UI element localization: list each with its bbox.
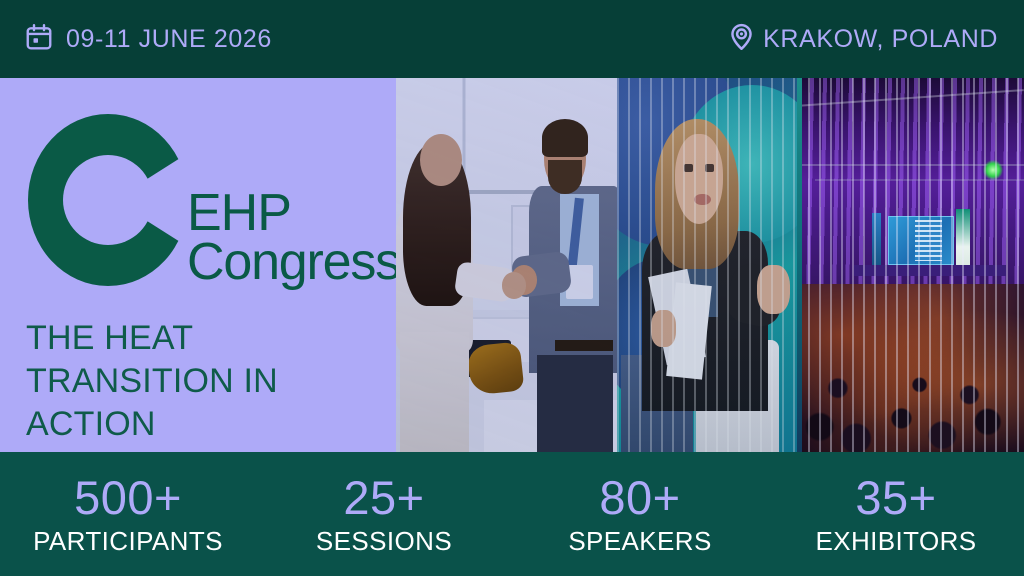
- handshake-networking-photo: [396, 78, 617, 452]
- event-promo-banner: 09-11 JUNE 2026 KRAKOW, POLAND: [0, 0, 1024, 576]
- banner-header-bar: 09-11 JUNE 2026 KRAKOW, POLAND: [0, 0, 1024, 78]
- stats-bar: 500+ PARTICIPANTS 25+ SESSIONS 80+ SPEAK…: [0, 452, 1024, 576]
- stat-label: SPEAKERS: [568, 528, 711, 554]
- brand-name-line-2: Congress: [187, 238, 400, 287]
- speaker-on-stage-photo: [617, 78, 797, 452]
- event-date-text: 09-11 JUNE 2026: [66, 25, 272, 54]
- stat-label: EXHIBITORS: [815, 528, 976, 554]
- event-tagline: THE HEAT TRANSITION IN ACTION: [26, 317, 396, 445]
- stat-label: PARTICIPANTS: [33, 528, 223, 554]
- event-location-text: KRAKOW, POLAND: [763, 25, 998, 54]
- letter-c-ring-mark-icon: [28, 114, 193, 291]
- stat-value: 25+: [343, 474, 424, 521]
- logo-lockup: EHP Congress: [26, 116, 396, 291]
- photo3-left-edge-accent: [797, 78, 802, 452]
- brand-wordmark: EHP Congress: [187, 189, 400, 287]
- stat-speakers: 80+ SPEAKERS: [512, 474, 768, 554]
- stat-exhibitors: 35+ EXHIBITORS: [768, 474, 1024, 554]
- stat-value: 80+: [599, 474, 680, 521]
- calendar-icon: [24, 22, 54, 57]
- photo-strip: [396, 78, 1024, 452]
- stat-participants: 500+ PARTICIPANTS: [0, 474, 256, 554]
- stat-value: 35+: [855, 474, 936, 521]
- banner-body: EHP Congress THE HEAT TRANSITION IN ACTI…: [0, 78, 1024, 452]
- stat-label: SESSIONS: [316, 528, 452, 554]
- photo1-color-tint: [396, 78, 617, 452]
- brand-panel: EHP Congress THE HEAT TRANSITION IN ACTI…: [0, 78, 396, 452]
- photo2-color-tint: [617, 78, 797, 452]
- photo3-vertical-line-overlay: [797, 78, 1024, 452]
- location-pin-icon: [726, 21, 757, 57]
- event-location-group: KRAKOW, POLAND: [726, 21, 998, 57]
- stat-sessions: 25+ SESSIONS: [256, 474, 512, 554]
- conference-hall-audience-photo: [797, 78, 1024, 452]
- stat-value: 500+: [74, 474, 182, 521]
- brand-name-line-1: EHP: [187, 189, 400, 238]
- event-date-group: 09-11 JUNE 2026: [24, 22, 272, 57]
